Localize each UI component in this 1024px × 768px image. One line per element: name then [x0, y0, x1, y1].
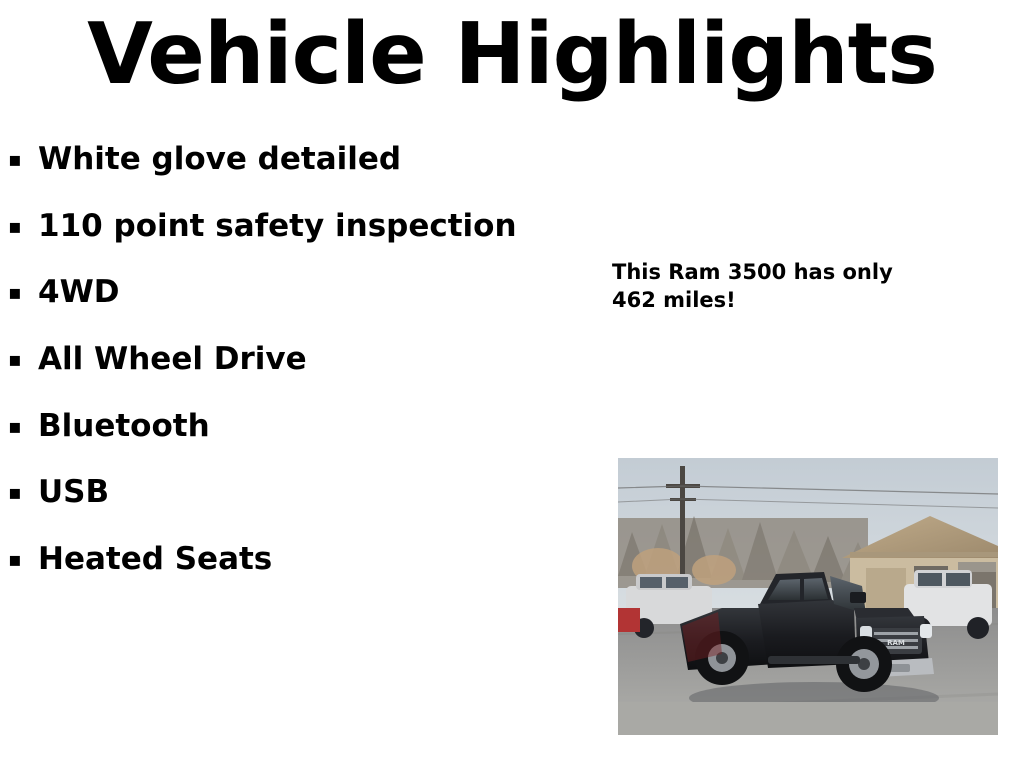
list-item-label: 4WD: [38, 273, 588, 313]
list-item: ▪ All Wheel Drive: [8, 340, 588, 380]
list-item: ▪ Bluetooth: [8, 407, 588, 447]
list-item-label: All Wheel Drive: [38, 340, 588, 380]
bullet-marker-icon: ▪: [8, 540, 38, 569]
list-item-label: Bluetooth: [38, 407, 588, 447]
bullet-marker-icon: ▪: [8, 140, 38, 169]
list-item: ▪ USB: [8, 473, 588, 513]
bullet-marker-icon: ▪: [8, 473, 38, 502]
list-item: ▪ White glove detailed: [8, 140, 588, 180]
svg-text:RAM: RAM: [887, 639, 905, 647]
list-item-label: 110 point safety inspection: [38, 207, 588, 247]
bullet-marker-icon: ▪: [8, 207, 38, 236]
ram-3500-truck-photo: RAM: [618, 458, 998, 735]
slide-canvas: Vehicle Highlights ▪ White glove detaile…: [0, 0, 1024, 768]
mileage-note: This Ram 3500 has only 462 miles!: [612, 258, 942, 315]
page-title: Vehicle Highlights: [0, 10, 1024, 99]
bullet-marker-icon: ▪: [8, 273, 38, 302]
list-item-label: USB: [38, 473, 588, 513]
list-item-label: White glove detailed: [38, 140, 588, 180]
list-item-label: Heated Seats: [38, 540, 588, 580]
list-item: ▪ Heated Seats: [8, 540, 588, 580]
bullet-marker-icon: ▪: [8, 407, 38, 436]
list-item: ▪ 110 point safety inspection: [8, 207, 588, 247]
highlights-list: ▪ White glove detailed ▪ 110 point safet…: [8, 140, 588, 607]
list-item: ▪ 4WD: [8, 273, 588, 313]
bullet-marker-icon: ▪: [8, 340, 38, 369]
